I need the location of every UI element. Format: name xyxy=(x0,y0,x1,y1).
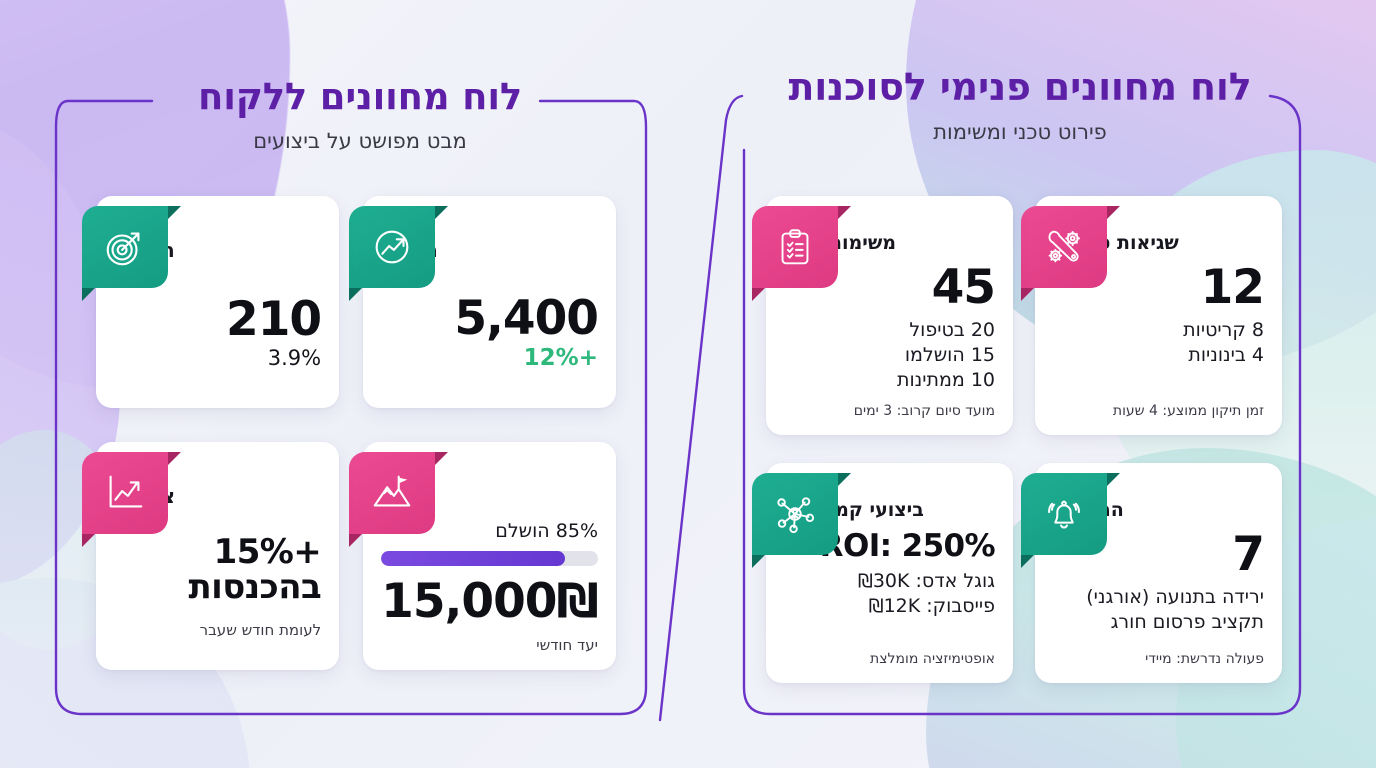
clipboard-checklist-icon xyxy=(752,206,838,288)
trend-up-circle-icon xyxy=(349,206,435,288)
card-note: יעד חודשי xyxy=(381,626,598,654)
mountain-flag-icon xyxy=(349,452,435,534)
detail-line: 15 הושלמו xyxy=(784,343,995,368)
ribbon-fold-top xyxy=(435,452,448,465)
ribbon-fold-bottom xyxy=(1021,555,1034,568)
ribbon-fold-bottom xyxy=(82,534,95,547)
badge-alerts xyxy=(1021,473,1107,565)
badge-team-tasks xyxy=(752,206,838,298)
card-technical-errors[interactable]: שגיאות טכניות 12 8 קריטיות 4 בינוניות זמ… xyxy=(1035,196,1282,435)
card-note: לעומת חודש שעבר xyxy=(114,611,321,639)
card-value: 15,000₪ xyxy=(381,578,598,626)
right-card-grid: שגיאות טכניות 12 8 קריטיות 4 בינוניות זמ… xyxy=(766,196,1282,683)
ribbon-fold-top xyxy=(1107,473,1120,486)
detail-line: 4 בינוניות xyxy=(1053,343,1264,368)
ribbon-fold-bottom xyxy=(752,288,765,301)
card-detail-lines: 20 בטיפול 15 הושלמו 10 ממתינות xyxy=(784,318,995,393)
ribbon-fold-top xyxy=(168,452,181,465)
ribbon-fold-top xyxy=(1107,206,1120,219)
detail-line: גוגל אדס: 30K₪ xyxy=(784,569,995,594)
ribbon-fold-bottom xyxy=(752,555,765,568)
bell-ring-icon xyxy=(1021,473,1107,555)
spacer xyxy=(114,639,321,654)
right-panel-title: לוח מחוונים פנימי לסוכנות xyxy=(740,66,1300,110)
card-delta: +12% xyxy=(381,345,598,371)
right-panel-subtitle: פירוט טכני ומשימות xyxy=(740,120,1300,144)
badge-conversions xyxy=(82,206,168,298)
ribbon-fold-top xyxy=(838,206,851,219)
goal-progress-bar[interactable] xyxy=(381,551,598,566)
ribbon-fold-bottom xyxy=(349,534,362,547)
spacer xyxy=(381,371,598,392)
card-traffic[interactable]: תנועה 5,400 +12% xyxy=(363,196,616,408)
card-note: זמן תיקון ממוצע: 4 שעות xyxy=(1053,393,1264,419)
card-team-tasks[interactable]: משימות צוות 45 20 בטיפול 15 הושלמו 10 ממ… xyxy=(766,196,1013,435)
card-goals[interactable]: יעדים 85% הושלם 15,000₪ יעד חודשי xyxy=(363,442,616,670)
badge-technical-errors xyxy=(1021,206,1107,298)
detail-line: תקציב פרסום חורג xyxy=(1053,610,1264,635)
card-detail-lines: ירידה בתנועה (אורגני) תקציב פרסום חורג xyxy=(1053,585,1264,635)
ribbon-fold-top xyxy=(838,473,851,486)
goal-progress-fill xyxy=(381,551,565,566)
card-alerts[interactable]: התראות 7 ירידה בתנועה (אורגני) תקציב פרס… xyxy=(1035,463,1282,683)
card-note: מועד סיום קרוב: 3 ימים xyxy=(784,393,995,419)
card-delta: 3.9% xyxy=(114,346,321,370)
right-panel-header: לוח מחוונים פנימי לסוכנות פירוט טכני ומש… xyxy=(740,66,1300,144)
card-value: +15% בהכנסות xyxy=(114,535,321,604)
badge-goals xyxy=(349,452,435,544)
card-note: אופטימיזציה מומלצת xyxy=(784,641,995,667)
ribbon-fold-top xyxy=(435,206,448,219)
badge-traffic xyxy=(349,206,435,298)
ribbon-fold-bottom xyxy=(1021,288,1034,301)
chart-growth-icon xyxy=(82,452,168,534)
detail-line: 20 בטיפול xyxy=(784,318,995,343)
spacer xyxy=(114,370,321,392)
detail-line: ירידה בתנועה (אורגני) xyxy=(1053,585,1264,610)
card-conversions[interactable]: המרות 210 3.9% xyxy=(96,196,339,408)
left-panel-title: לוח מחוונים ללקוח xyxy=(80,76,640,119)
detail-line: 10 ממתינות xyxy=(784,368,995,393)
ribbon-fold-bottom xyxy=(82,288,95,301)
card-value: 5,400 xyxy=(381,295,598,343)
detail-line: פייסבוק: 12K₪ xyxy=(784,594,995,619)
card-growth[interactable]: צמיחה +15% בהכנסות לעומת חודש שעבר xyxy=(96,442,339,670)
ribbon-fold-bottom xyxy=(349,288,362,301)
card-note: פעולה נדרשת: מיידי xyxy=(1053,641,1264,667)
left-card-grid: תנועה 5,400 +12% xyxy=(96,196,616,670)
network-nodes-icon xyxy=(752,473,838,555)
left-panel-subtitle: מבט מפושט על ביצועים xyxy=(80,129,640,153)
detail-line: 8 קריטיות xyxy=(1053,318,1264,343)
wrench-gears-icon xyxy=(1021,206,1107,288)
right-panel-diagonal-edge xyxy=(660,96,742,720)
card-detail-lines: גוגל אדס: 30K₪ פייסבוק: 12K₪ xyxy=(784,569,995,619)
target-arrow-icon xyxy=(82,206,168,288)
left-panel-header: לוח מחוונים ללקוח מבט מפושט על ביצועים xyxy=(80,76,640,153)
infographic-canvas: לוח מחוונים ללקוח מבט מפושט על ביצועים ל… xyxy=(0,0,1376,768)
card-detail-lines: 8 קריטיות 4 בינוניות xyxy=(1053,318,1264,368)
card-value: 210 xyxy=(114,296,321,344)
card-campaign-performance[interactable]: ביצועי קמפיינים ROI: 250% גוגל אדס: 30K₪… xyxy=(766,463,1013,683)
ribbon-fold-top xyxy=(168,206,181,219)
badge-campaign-performance xyxy=(752,473,838,565)
badge-growth xyxy=(82,452,168,544)
